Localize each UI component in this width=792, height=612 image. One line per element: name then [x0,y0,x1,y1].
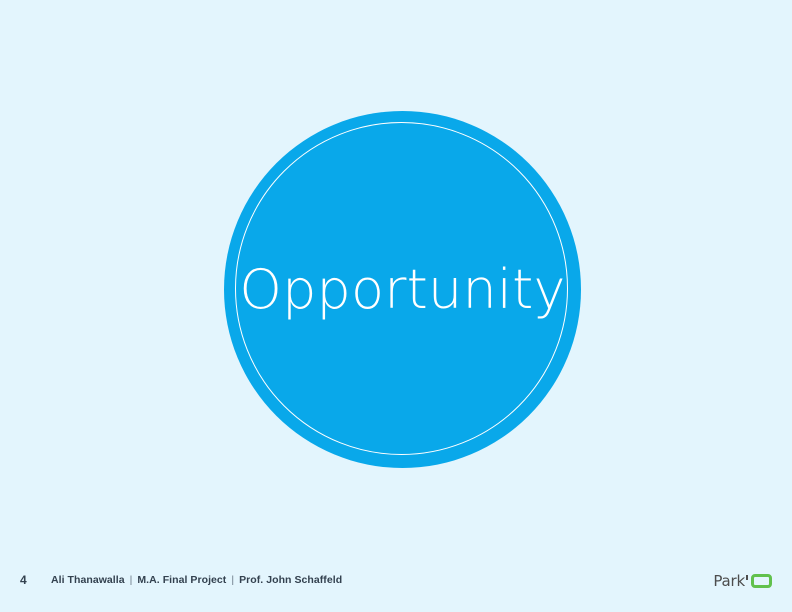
footer-credit: Ali Thanawalla | M.A. Final Project | Pr… [51,575,342,586]
footer-separator-1: | [128,574,135,586]
slide-canvas: Opportunity 4 Ali Thanawalla | M.A. Fina… [0,0,792,612]
rounded-rect-outline-icon [751,574,772,588]
circle-label: Opportunity [224,111,581,468]
opportunity-circle: Opportunity [224,111,581,468]
footer-separator-2: | [229,574,236,586]
footer-author: Ali Thanawalla [51,574,125,586]
footer-project: M.A. Final Project [137,574,226,586]
park-wordmark: Park [713,574,745,589]
park-logo: Park [713,570,772,592]
page-number: 4 [20,574,27,586]
slide-footer: 4 Ali Thanawalla | M.A. Final Project | … [0,566,792,612]
park-tick-icon [746,575,748,580]
footer-advisor: Prof. John Schaffeld [239,574,342,586]
